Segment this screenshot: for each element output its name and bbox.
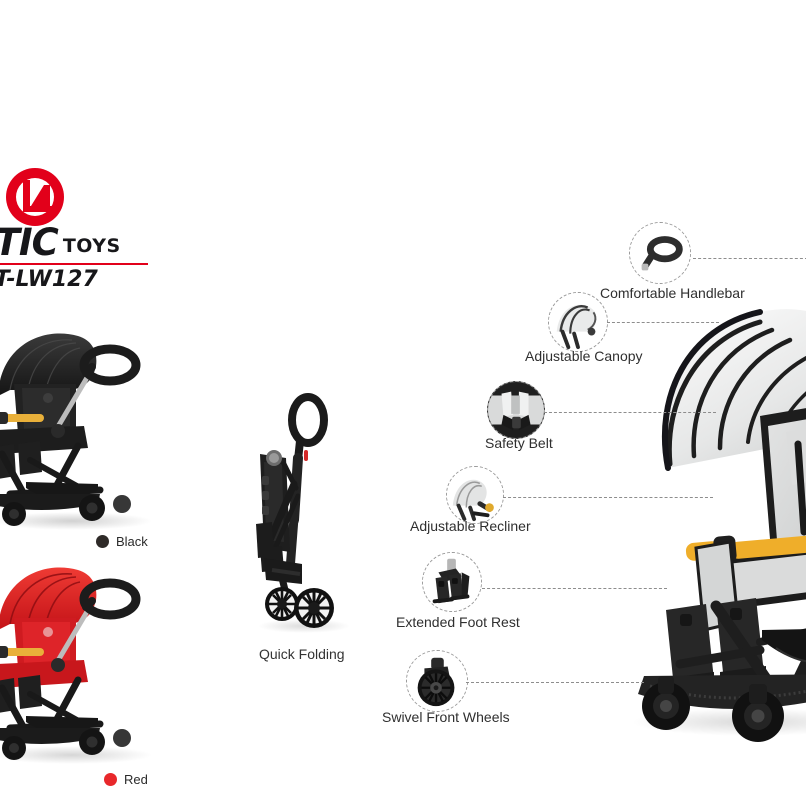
colorway-black: Black xyxy=(96,534,148,549)
safety-belt-icon xyxy=(487,381,545,439)
brand-divider-rule xyxy=(0,263,148,265)
feature-label-comfortable-handlebar: Comfortable Handlebar xyxy=(600,285,745,301)
xotic-circle-logo-icon xyxy=(6,168,64,226)
recliner-icon xyxy=(446,466,504,524)
leader-line-handlebar xyxy=(693,258,806,259)
leader-line-safety-belt xyxy=(544,412,716,413)
feature-label-swivel-front-wheels: Swivel Front Wheels xyxy=(382,709,510,725)
color-dot-red xyxy=(104,773,117,786)
stroller-red-icon xyxy=(0,556,165,766)
colorway-label-black: Black xyxy=(116,534,148,549)
leader-line-recliner xyxy=(503,497,713,498)
stroller-black-icon xyxy=(0,318,165,533)
brand-logo-block: XOTICTOYS NO: ET-LW127 xyxy=(0,168,148,290)
canopy-icon xyxy=(548,292,608,352)
leader-line-footrest xyxy=(482,588,667,589)
leader-line-canopy xyxy=(607,322,719,323)
brand-name-main: XOTIC xyxy=(0,221,58,264)
feature-label-adjustable-canopy: Adjustable Canopy xyxy=(525,348,643,364)
colorway-red: Red xyxy=(104,772,148,787)
colorway-label-red: Red xyxy=(124,772,148,787)
product-infographic-page: XOTICTOYS NO: ET-LW127 xyxy=(0,0,806,806)
color-dot-black xyxy=(96,535,109,548)
feature-label-adjustable-recliner: Adjustable Recliner xyxy=(410,518,531,534)
feature-label-safety-belt: Safety Belt xyxy=(485,435,553,451)
footrest-icon xyxy=(422,552,482,612)
quick-folding-caption: Quick Folding xyxy=(259,646,345,662)
leader-line-swivel-wheels xyxy=(466,682,644,683)
brand-name-sub: TOYS xyxy=(63,235,121,257)
brand-wordmark: XOTICTOYS xyxy=(0,226,148,260)
swivel-wheel-icon xyxy=(406,650,468,712)
handlebar-icon xyxy=(629,222,691,284)
brand-model-number: NO: ET-LW127 xyxy=(0,267,156,292)
stroller-folded-icon xyxy=(238,392,368,637)
feature-label-extended-foot-rest: Extended Foot Rest xyxy=(396,614,520,630)
